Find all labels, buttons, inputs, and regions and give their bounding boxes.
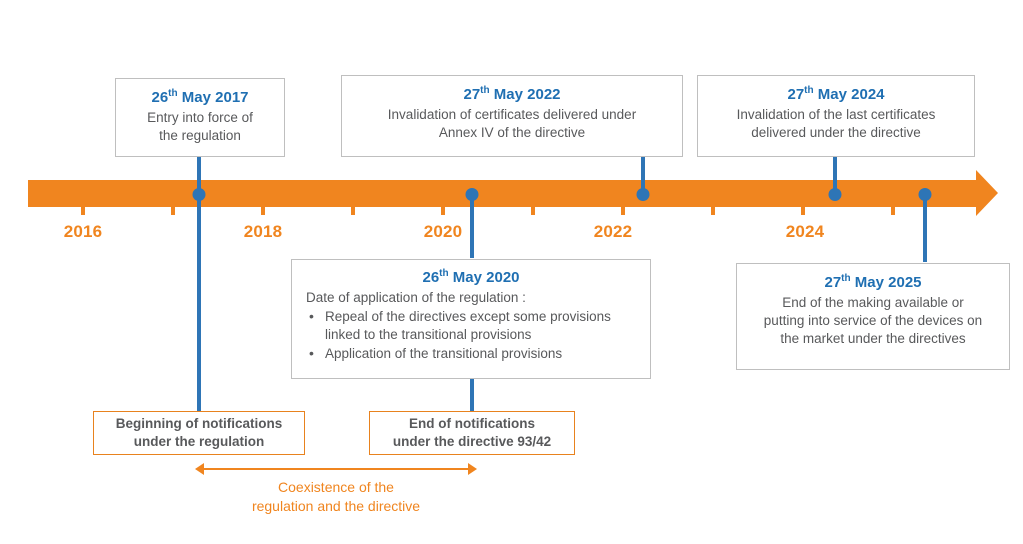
list-item: Repeal of the directives except some pro… <box>302 308 640 344</box>
event-monthyear-2024: May 2024 <box>818 86 885 103</box>
event-day-2025: 27 <box>824 274 841 291</box>
event-date-2025: 27th May 2025 <box>749 274 997 292</box>
event-box-2025[interactable]: 27th May 2025 End of the making availabl… <box>736 263 1010 370</box>
event-day-2017: 26 <box>151 89 168 106</box>
event-monthyear-2025: May 2025 <box>855 274 922 291</box>
notification-text-end: End of notifications under the directive… <box>393 415 551 450</box>
event-date-2022: 27th May 2022 <box>354 86 670 104</box>
timeline-arrow-head-icon <box>976 170 998 216</box>
timeline-diagram: 2016 2018 2020 2022 2024 26th May 2017 E… <box>0 0 1023 544</box>
coexistence-arrow-right-icon <box>468 463 477 475</box>
axis-tick <box>171 207 175 215</box>
marker-dot-2022[interactable] <box>637 188 650 201</box>
event-description-2022: Invalidation of certificates delivered u… <box>354 106 670 142</box>
event-box-2017[interactable]: 26th May 2017 Entry into force of the re… <box>115 78 285 157</box>
event-date-2017: 26th May 2017 <box>128 89 272 107</box>
list-item: Application of the transitional provisio… <box>302 345 640 363</box>
event-ordinal-2020: th <box>439 268 448 279</box>
year-label-2016: 2016 <box>64 222 103 242</box>
event-monthyear-2017: May 2017 <box>182 89 249 106</box>
axis-tick <box>261 207 265 215</box>
axis-tick <box>711 207 715 215</box>
notification-text-beginning: Beginning of notifications under the reg… <box>116 415 282 450</box>
event-2020-bullet-list: Repeal of the directives except some pro… <box>302 308 640 363</box>
event-ordinal-2025: th <box>841 273 850 284</box>
axis-tick <box>441 207 445 215</box>
event-ordinal-2024: th <box>804 85 813 96</box>
year-label-2018: 2018 <box>244 222 283 242</box>
event-description-2017: Entry into force of the regulation <box>128 109 272 145</box>
event-day-2022: 27 <box>463 86 480 103</box>
marker-dot-2020[interactable] <box>466 188 479 201</box>
year-label-2022: 2022 <box>594 222 633 242</box>
event-description-2024: Invalidation of the last certificates de… <box>710 106 962 142</box>
event-box-2022[interactable]: 27th May 2022 Invalidation of certificat… <box>341 75 683 157</box>
event-2020-intro: Date of application of the regulation : <box>302 289 640 307</box>
event-date-2020: 26th May 2020 <box>302 269 640 287</box>
event-date-2024: 27th May 2024 <box>710 86 962 104</box>
event-description-2025: End of the making available or putting i… <box>749 294 997 347</box>
coexistence-arrow-left-icon <box>195 463 204 475</box>
event-day-2024: 27 <box>787 86 804 103</box>
axis-tick <box>81 207 85 215</box>
axis-tick <box>621 207 625 215</box>
axis-tick <box>891 207 895 215</box>
connector-notification-start <box>197 190 201 412</box>
axis-tick <box>351 207 355 215</box>
year-label-2024: 2024 <box>786 222 825 242</box>
event-monthyear-2022: May 2022 <box>494 86 561 103</box>
notification-box-end[interactable]: End of notifications under the directive… <box>369 411 575 455</box>
event-box-2024[interactable]: 27th May 2024 Invalidation of the last c… <box>697 75 975 157</box>
event-box-2020[interactable]: 26th May 2020 Date of application of the… <box>291 259 651 379</box>
event-day-2020: 26 <box>422 269 439 286</box>
year-label-2020: 2020 <box>424 222 463 242</box>
coexistence-arrow-line <box>204 468 468 470</box>
marker-dot-2024[interactable] <box>829 188 842 201</box>
coexistence-caption: Coexistence of the regulation and the di… <box>252 478 420 515</box>
connector-notification-end <box>470 378 474 412</box>
marker-dot-2017[interactable] <box>193 188 206 201</box>
marker-dot-2025[interactable] <box>919 188 932 201</box>
event-ordinal-2017: th <box>168 88 177 99</box>
axis-tick <box>531 207 535 215</box>
notification-box-beginning[interactable]: Beginning of notifications under the reg… <box>93 411 305 455</box>
axis-tick <box>801 207 805 215</box>
event-ordinal-2022: th <box>480 85 489 96</box>
event-monthyear-2020: May 2020 <box>453 269 520 286</box>
